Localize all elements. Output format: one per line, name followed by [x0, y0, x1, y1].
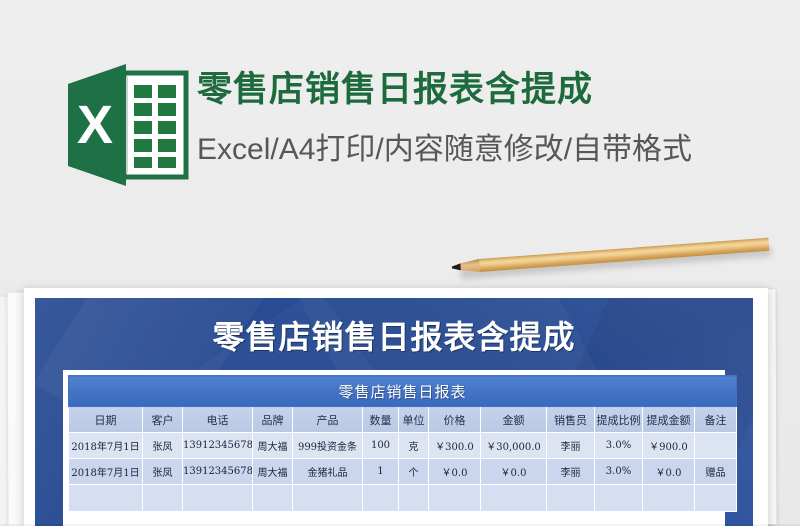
cell-rate: 3.0% — [595, 459, 643, 485]
cell-customer — [143, 485, 183, 512]
cell-rate — [595, 485, 643, 512]
cell-commission: ￥0.0 — [643, 459, 695, 485]
col-header-note: 备注 — [695, 407, 737, 433]
cell-salesperson: 李丽 — [547, 459, 595, 485]
cell-phone: 13912345678 — [183, 459, 253, 485]
document-blue-sheet: 零售店销售日报表含提成 零售店销售日报表 — [35, 298, 753, 526]
col-header-date: 日期 — [69, 407, 143, 433]
report-table-frame: 零售店销售日报表 日期 客户 电话 品牌 产品 数量 单位 价格 金额 — [63, 370, 725, 526]
col-header-brand: 品牌 — [253, 407, 293, 433]
cell-brand — [253, 485, 293, 512]
col-header-rate: 提成比例 — [595, 407, 643, 433]
cell-brand: 周大福 — [253, 433, 293, 459]
cell-price: ￥300.0 — [429, 433, 481, 459]
cell-salesperson: 李丽 — [547, 433, 595, 459]
cell-price — [429, 485, 481, 512]
table-row[interactable] — [69, 485, 737, 512]
cell-date — [69, 485, 143, 512]
col-header-quantity: 数量 — [363, 407, 399, 433]
table-row[interactable]: 2018年7月1日 张凤 13912345678 周大福 金猪礼品 1 个 ￥0… — [69, 459, 737, 485]
cell-amount: ￥30,000.0 — [481, 433, 547, 459]
cell-unit: 个 — [399, 459, 429, 485]
cell-amount — [481, 485, 547, 512]
col-header-unit: 单位 — [399, 407, 429, 433]
cell-note — [695, 433, 737, 459]
col-header-customer: 客户 — [143, 407, 183, 433]
cell-customer: 张凤 — [143, 433, 183, 459]
cell-rate: 3.0% — [595, 433, 643, 459]
cell-quantity — [363, 485, 399, 512]
cell-note — [695, 485, 737, 512]
cell-unit: 克 — [399, 433, 429, 459]
table-title-cell: 零售店销售日报表 — [69, 376, 737, 407]
excel-logo-icon: X — [62, 60, 192, 190]
cell-amount: ￥0.0 — [481, 459, 547, 485]
table-header-row: 日期 客户 电话 品牌 产品 数量 单位 价格 金额 销售员 提成比例 提成金额 — [69, 407, 737, 433]
document-banner-title: 零售店销售日报表含提成 — [35, 312, 753, 358]
sales-report-table[interactable]: 零售店销售日报表 日期 客户 电话 品牌 产品 数量 单位 价格 金额 — [68, 375, 737, 512]
cell-quantity: 1 — [363, 459, 399, 485]
page-root: X 零售店销售日报表含提成 Excel/A4打印/内容随意修改/自带格式 零售店… — [0, 0, 800, 526]
cell-phone — [183, 485, 253, 512]
col-header-amount: 金额 — [481, 407, 547, 433]
cell-product — [293, 485, 363, 512]
col-header-phone: 电话 — [183, 407, 253, 433]
cell-product: 金猪礼品 — [293, 459, 363, 485]
promo-subtitle: Excel/A4打印/内容随意修改/自带格式 — [197, 128, 692, 172]
svg-text:X: X — [77, 95, 113, 155]
cell-salesperson — [547, 485, 595, 512]
col-header-price: 价格 — [429, 407, 481, 433]
cell-phone: 13912345678 — [183, 433, 253, 459]
cell-commission: ￥900.0 — [643, 433, 695, 459]
table-row[interactable]: 2018年7月1日 张凤 13912345678 周大福 999投资金条 100… — [69, 433, 737, 459]
promo-title: 零售店销售日报表含提成 — [197, 68, 593, 112]
cell-note: 赠品 — [695, 459, 737, 485]
col-header-salesperson: 销售员 — [547, 407, 595, 433]
cell-date: 2018年7月1日 — [69, 433, 143, 459]
col-header-commission: 提成金额 — [643, 407, 695, 433]
promo-header: X 零售店销售日报表含提成 Excel/A4打印/内容随意修改/自带格式 — [0, 0, 800, 250]
cell-customer: 张凤 — [143, 459, 183, 485]
table-title-row: 零售店销售日报表 — [69, 376, 737, 407]
cell-product: 999投资金条 — [293, 433, 363, 459]
cell-date: 2018年7月1日 — [69, 459, 143, 485]
cell-price: ￥0.0 — [429, 459, 481, 485]
cell-brand: 周大福 — [253, 459, 293, 485]
col-header-product: 产品 — [293, 407, 363, 433]
pencil-graphite-tip — [451, 263, 460, 271]
document-preview[interactable]: 零售店销售日报表含提成 零售店销售日报表 — [24, 288, 768, 526]
cell-quantity: 100 — [363, 433, 399, 459]
cell-unit — [399, 485, 429, 512]
cell-commission — [643, 485, 695, 512]
